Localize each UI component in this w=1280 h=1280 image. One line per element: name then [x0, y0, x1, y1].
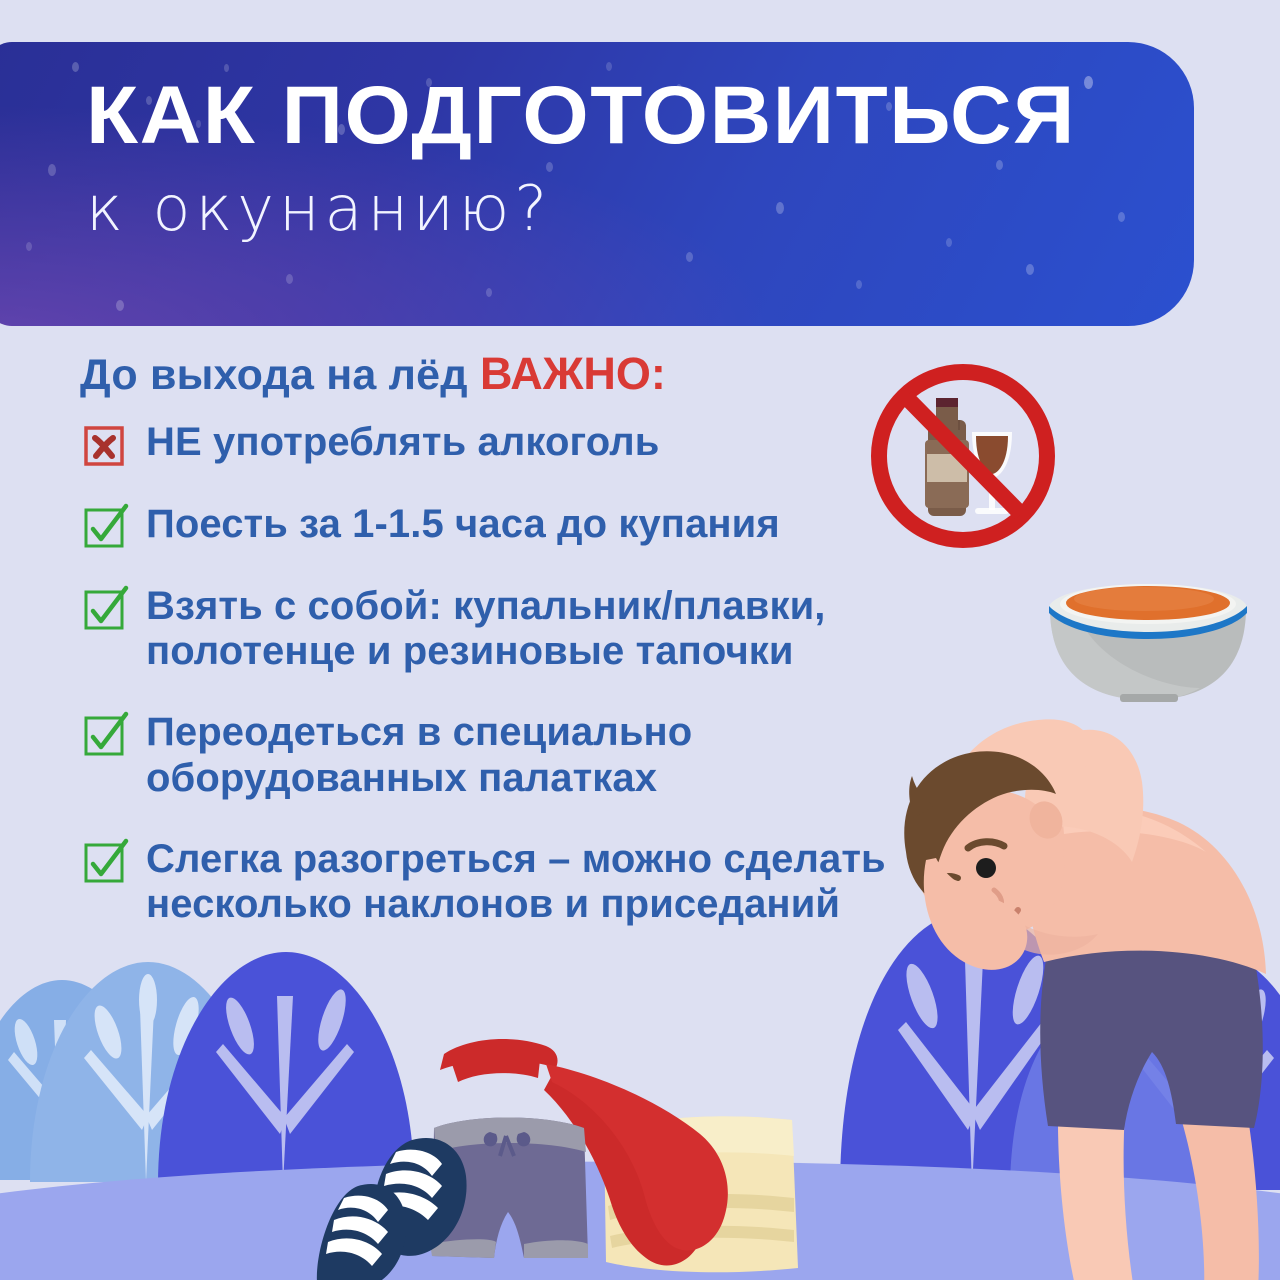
- list-item[interactable]: НЕ употреблять алкоголь: [0, 420, 1280, 478]
- list-item[interactable]: Слегка разогреться – можно сделать неско…: [0, 837, 1280, 927]
- snow-dot: [1026, 264, 1034, 275]
- list-item[interactable]: Взять с собой: купальник/плавки, полотен…: [0, 584, 1280, 674]
- lead-prefix: До выхода на лёд: [80, 351, 480, 399]
- list-item-label: Слегка разогреться – можно сделать неско…: [146, 837, 986, 927]
- list-item-label: Переодеться в специально оборудованных п…: [146, 710, 986, 800]
- snow-dot: [116, 300, 124, 311]
- page-subtitle: к окунанию?: [86, 170, 1038, 248]
- list-item-label: Взять с собой: купальник/плавки, полотен…: [146, 584, 986, 674]
- snow-dot: [72, 62, 79, 72]
- header-banner: КАК ПОДГОТОВИТЬСЯ к окунанию?: [0, 42, 1194, 326]
- snow-dot: [48, 164, 56, 176]
- checklist: НЕ употреблять алкоголь Поесть за 1-1.5 …: [0, 420, 1280, 927]
- check-box-icon: [84, 590, 124, 630]
- snow-dot: [1084, 76, 1093, 89]
- snow-dot: [686, 252, 693, 262]
- check-box-icon: [84, 508, 124, 548]
- snow-dot: [486, 288, 492, 297]
- snow-dot: [856, 280, 862, 289]
- check-box-icon: [84, 843, 124, 883]
- page-title: КАК ПОДГОТОВИТЬСЯ: [86, 76, 1076, 156]
- list-item-label: НЕ употреблять алкоголь: [146, 420, 986, 465]
- list-item-label: Поесть за 1-1.5 часа до купания: [146, 502, 986, 547]
- snow-dot: [26, 242, 32, 251]
- important-word: ВАЖНО:: [480, 348, 666, 399]
- checklist-section: До выхода на лёд ВАЖНО: НЕ употреблять а…: [0, 348, 1280, 931]
- infographic-canvas: КАК ПОДГОТОВИТЬСЯ к окунанию? До выхода …: [0, 0, 1280, 1280]
- snow-dot: [286, 274, 293, 284]
- list-item[interactable]: Поесть за 1-1.5 часа до купания: [0, 502, 1280, 560]
- cross-box-icon: [84, 426, 124, 466]
- list-item[interactable]: Переодеться в специально оборудованных п…: [0, 710, 1280, 800]
- snow-dot: [1118, 212, 1125, 222]
- winter-trees-left: [0, 952, 414, 1184]
- lead-line: До выхода на лёд ВАЖНО:: [80, 348, 1280, 400]
- check-box-icon: [84, 716, 124, 756]
